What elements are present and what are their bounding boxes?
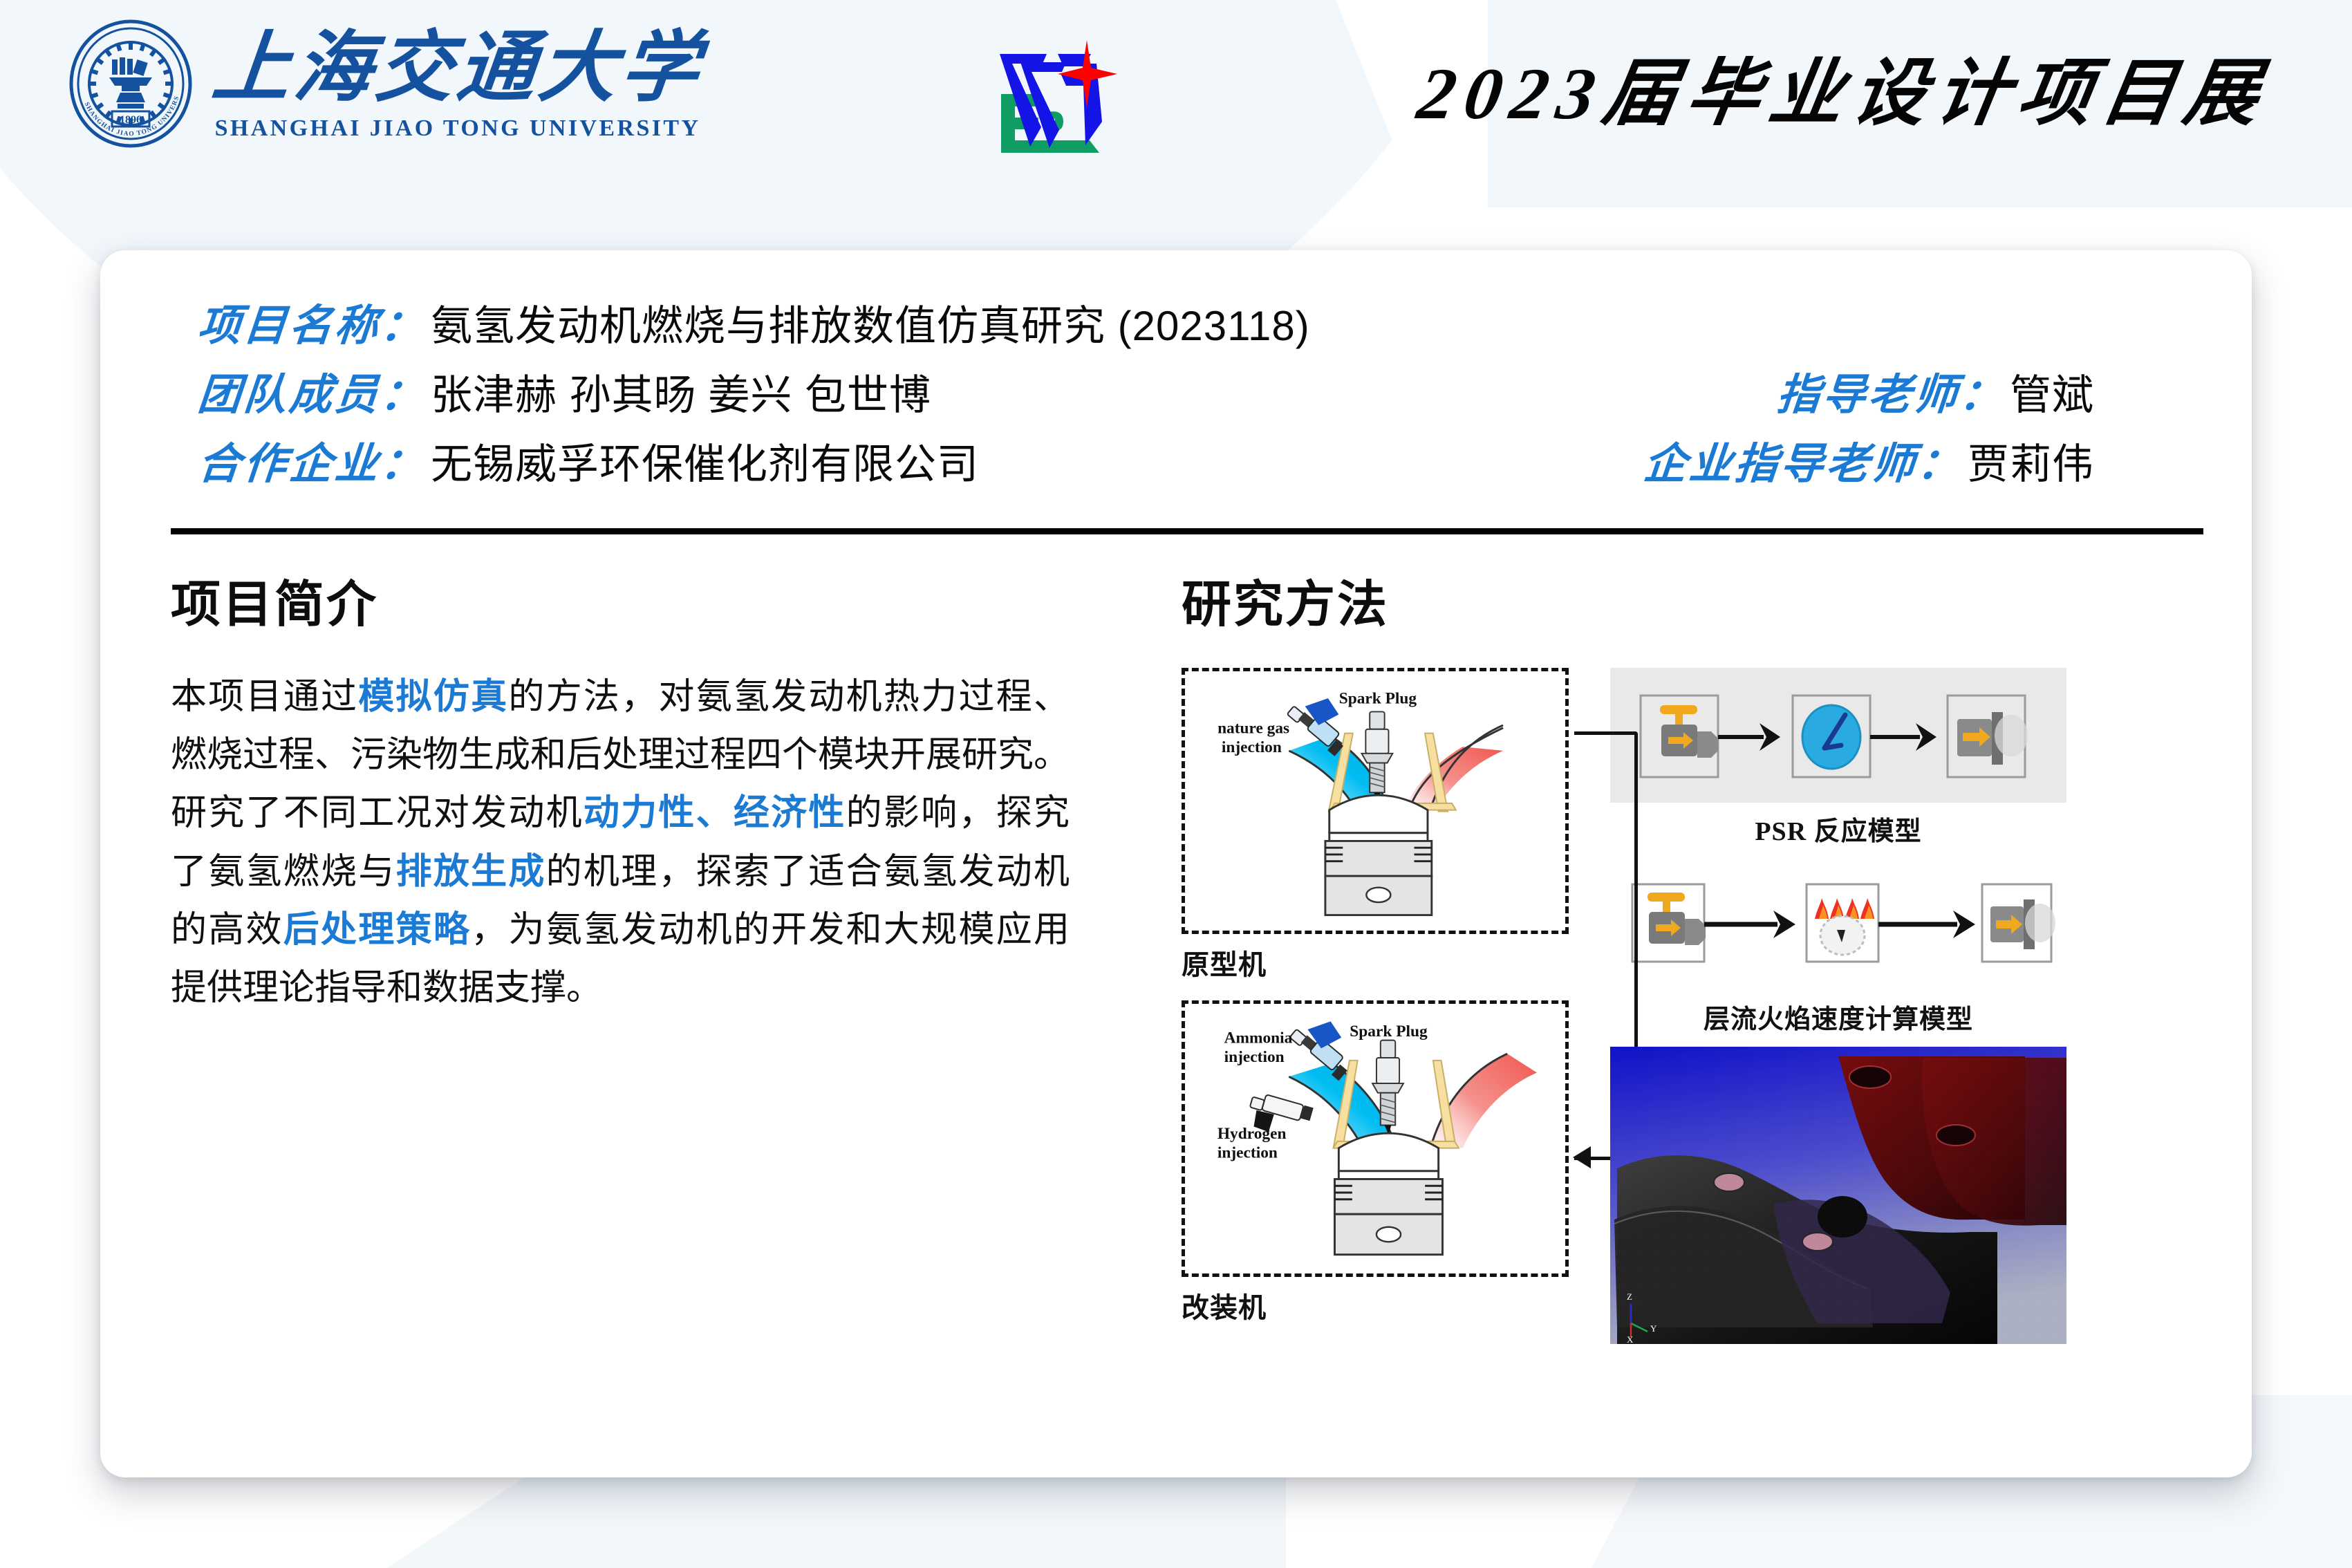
svg-text:injection: injection (1222, 738, 1282, 756)
svg-text:injection: injection (1217, 1144, 1278, 1161)
poster-body: 项目简介 本项目通过模拟仿真的方法，对氨氢发动机热力过程、燃烧过程、污染物生成和… (171, 563, 2198, 1344)
label-ammonia-injection: Ammonia (1224, 1029, 1293, 1047)
engine-prototype-figure: nature gas injection Spark Plug (1182, 668, 1569, 934)
intro-highlight-5: 排放生成 (396, 852, 546, 892)
label-spark-plug: Spark Plug (1339, 690, 1417, 708)
outlet-icon-2 (1990, 899, 2055, 949)
intro-column: 项目简介 本项目通过模拟仿真的方法，对氨氢发动机热力过程、燃烧过程、污染物生成和… (171, 563, 1118, 1344)
company-value: 无锡威孚环保催化剂有限公司 (431, 431, 979, 491)
intro-highlight-7: 后处理策略 (283, 910, 471, 950)
cfd-axis-x-label: X (1627, 1334, 1634, 1344)
engine-schematics: nature gas injection Spark Plug 原型机 (1182, 668, 1569, 1344)
svg-text:injection: injection (1224, 1048, 1285, 1066)
poster-title: 2023届毕业设计项目展 (1412, 33, 2277, 140)
project-name-label: 项目名称： (196, 290, 429, 353)
intro-highlight-3: 动力性、经济性 (584, 793, 846, 833)
cfd-axis-y-label: Y (1650, 1323, 1657, 1334)
connector-arrow-icon (1573, 1146, 1591, 1168)
label-hydrogen-injection: Hydrogen (1217, 1125, 1287, 1143)
simulation-models: PSR 反应模型 (1610, 668, 2066, 1344)
university-wordmark: 上海交通大学 SHANGHAI JIAO TONG UNIVERSITY (213, 26, 702, 141)
meta-row-team: 团队成员： 张津赫 孙其旸 姜兴 包世博 指导老师： 管斌 (198, 360, 2198, 429)
section-divider (171, 528, 2203, 534)
inlet-valve-icon-2 (1648, 893, 1706, 945)
methods-figures: nature gas injection Spark Plug 原型机 (1182, 668, 2198, 1344)
intro-highlight-1: 模拟仿真 (358, 677, 508, 717)
psr-model-diagram (1610, 668, 2066, 803)
project-name-value: 氨氢发动机燃烧与排放数值仿真研究 (2023118) (431, 292, 1310, 353)
label-spark-plug-2: Spark Plug (1350, 1023, 1428, 1040)
intro-body-text: 本项目通过模拟仿真的方法，对氨氢发动机热力过程、燃烧过程、污染物生成和后处理过程… (171, 668, 1070, 1017)
advisor-group: 指导老师： 管斌 (1777, 360, 2198, 422)
seal-year-text: 1896 (120, 114, 142, 126)
advisor-label: 指导老师： (1775, 360, 2008, 422)
laminar-flame-icon (1815, 898, 1874, 955)
team-value: 张津赫 孙其旸 姜兴 包世博 (431, 362, 931, 422)
cfd-mesh-visualization: Z Y X (1610, 1047, 2066, 1344)
psr-model-caption: PSR 反应模型 (1610, 810, 2066, 848)
company-label: 合作企业： (196, 429, 429, 491)
engine-prototype-caption: 原型机 (1182, 942, 1569, 982)
psr-reactor-icon (1802, 705, 1860, 769)
intro-text-0: 本项目通过 (171, 677, 358, 717)
inlet-valve-icon (1660, 705, 1718, 758)
advisor-value: 管斌 (2010, 362, 2094, 422)
meta-row-project-name: 项目名称： 氨氢发动机燃烧与排放数值仿真研究 (2023118) (198, 290, 2198, 360)
enterprise-advisor-group: 企业指导老师： 贾莉伟 (1644, 429, 2198, 491)
cfd-axis-z-label: Z (1627, 1291, 1632, 1302)
engine-modified-caption: 改装机 (1182, 1285, 1569, 1325)
university-name-cn: 上海交通大学 (208, 26, 707, 112)
flame-model-diagram (1610, 863, 2066, 991)
poster-header: 1896 SHANGHAI JIAO TONG UNIVERSITY 上海交通大… (0, 0, 2352, 207)
team-label: 团队成员： (196, 360, 429, 422)
label-nature-gas-injection: nature gas (1217, 720, 1289, 738)
meta-row-company: 合作企业： 无锡威孚环保催化剂有限公司 企业指导老师： 贾莉伟 (198, 429, 2198, 498)
enterprise-advisor-value: 贾莉伟 (1968, 431, 2094, 491)
enterprise-advisor-label: 企业指导老师： (1641, 429, 1966, 491)
poster-card: 项目名称： 氨氢发动机燃烧与排放数值仿真研究 (2023118) 团队成员： 张… (100, 250, 2252, 1477)
methods-column: 研究方法 (1118, 563, 2198, 1344)
university-lockup: 1896 SHANGHAI JIAO TONG UNIVERSITY 上海交通大… (66, 19, 702, 148)
intro-heading: 项目简介 (171, 563, 1118, 636)
outlet-icon (1957, 712, 2028, 765)
university-name-en: SHANGHAI JIAO TONG UNIVERSITY (215, 115, 701, 142)
flame-model-caption: 层流火焰速度计算模型 (1610, 998, 2066, 1036)
sponsor-logo-icon (982, 28, 1141, 159)
methods-heading: 研究方法 (1182, 563, 2198, 636)
engine-modified-figure: Ammonia injection Hydrogen injection Spa… (1182, 1000, 1569, 1277)
project-meta-block: 项目名称： 氨氢发动机燃烧与排放数值仿真研究 (2023118) 团队成员： 张… (198, 290, 2198, 498)
sjtu-seal-icon: 1896 SHANGHAI JIAO TONG UNIVERSITY (66, 19, 195, 148)
